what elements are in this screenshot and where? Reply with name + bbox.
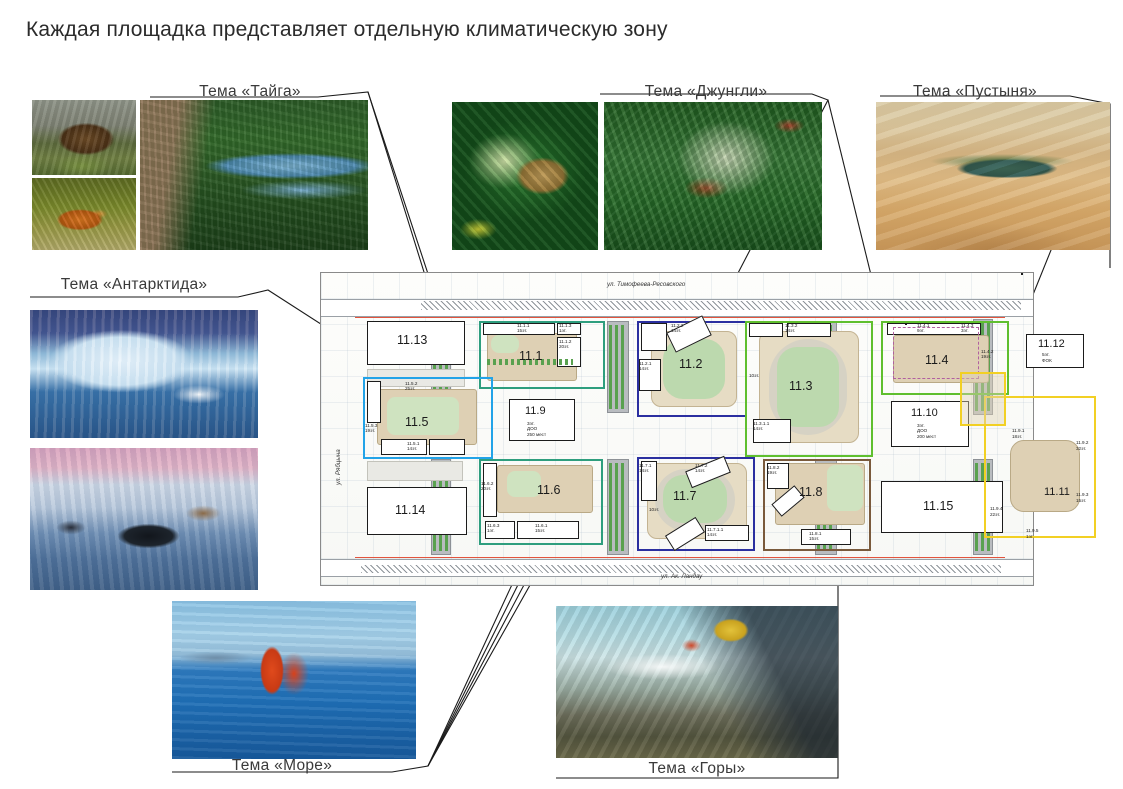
photo-jungle-foliage [604, 102, 822, 250]
plan-block-label-11-5: 11.5 [405, 415, 428, 429]
plan-sub-11-9-2: 11.9.232эт. [1076, 440, 1088, 451]
theme-label-desert: Тема «Пустыня» [880, 83, 1070, 101]
photo-desert-oasis [876, 102, 1110, 250]
plan-note-11-11: 3эт.ДОО200 мест [917, 423, 936, 439]
plan-block-label-11-12: 11.12 [1038, 338, 1065, 350]
plan-sub-11-4-3: 11.4.33эт. [961, 323, 973, 334]
plan-block-label-11-2: 11.2 [679, 357, 702, 371]
plan-sub-11-3-1-1: 11.3.1.114эт. [753, 421, 769, 432]
plan-block-label-11-9: 11.11 [1044, 486, 1070, 498]
plan-block-label-11-11: 11.10 [911, 407, 938, 419]
plan-sub-11-7-1-1: 11.7.1.114эт. [707, 527, 723, 538]
theme-label-mountains: Тема «Горы» [556, 760, 838, 778]
street-label-left: ул. Рябцына [335, 449, 342, 485]
plan-sub-11-6-2: 11.6.220эт. [481, 481, 493, 492]
plan-sub-11-9-3: 11.9.315эт. [1076, 492, 1088, 503]
photo-jungle-leopard [452, 102, 598, 250]
plan-block-label-11-3: 11.3 [789, 379, 812, 393]
plan-court-11-9 [1010, 440, 1080, 512]
plan-sub-11-3-2: 11.3.214эт. [785, 323, 797, 334]
plan-highlight-11-9-strip[interactable] [960, 372, 1006, 426]
photo-antarctica-iceberg [30, 310, 258, 438]
plan-sub-11-4-2: 11.4.219эт. [981, 349, 993, 360]
plan-block-label-11-10: 11.9 [525, 405, 546, 417]
page-title: Каждая площадка представляет отдельную к… [26, 18, 668, 42]
plan-block-label-11-7: 11.7 [673, 489, 696, 503]
plan-sub-11-2-1: 11.2.114эт. [639, 361, 651, 372]
photo-mountains [556, 606, 838, 758]
plan-sub-11-6-1: 11.6.115эт. [535, 523, 547, 534]
theme-label-taiga: Тема «Тайга» [150, 83, 350, 101]
photo-taiga-fox [32, 178, 136, 250]
plan-sub-11-5-3: 11.5.319эт. [365, 423, 377, 434]
photo-taiga-bear [32, 100, 136, 175]
plan-sub-11-5-2: 11.5.225эт. [405, 381, 417, 392]
plan-sub-11-8-1: 11.8.115эт. [809, 531, 821, 542]
plan-sub-11-5-1: 11.5.114эт. [407, 441, 419, 452]
plan-sub-11-7-2: 11.7.214эт. [695, 463, 707, 474]
theme-label-antarctica: Тема «Антарктида» [30, 276, 238, 294]
theme-label-sea: Тема «Море» [172, 757, 392, 775]
slide-canvas: Каждая площадка представляет отдельную к… [0, 0, 1123, 789]
plan-sub-11-1-3: 11.1.31эт. [559, 323, 571, 334]
plan-sub-11-1-2: 11.1.220эт. [559, 339, 571, 350]
theme-label-jungle: Тема «Джунгли» [600, 83, 812, 101]
photo-antarctica-wildlife [30, 448, 258, 590]
plan-block-label-11-13: 11.13 [397, 333, 427, 347]
plan-sub-11-7-floors: 10эт. [649, 507, 659, 512]
plan-block-label-11-4: 11.4 [925, 353, 948, 367]
plan-sub-11-3-1: 10эт. [749, 373, 759, 378]
plan-block-label-11-15: 11.15 [923, 499, 953, 513]
plan-sub-11-7-1: 11.7.114эт. [639, 463, 651, 474]
site-plan[interactable]: ул. Тимофеева-Ресовского ул. Ак. Ландау … [320, 272, 1034, 586]
plan-sub-11-1-1: 11.1.115эт. [517, 323, 529, 334]
plan-note-11-12: 5эт.ФОК [1042, 352, 1052, 363]
plan-sub-11-9-4: 11.9.422эт. [990, 506, 1002, 517]
photo-taiga-forest [140, 100, 368, 250]
plan-sub-11-9-1: 11.9.118эт. [1012, 428, 1024, 439]
plan-sub-11-9-5: 11.9.51эт. [1026, 528, 1038, 539]
plan-block-label-11-14: 11.14 [395, 503, 425, 517]
plan-sub-11-6-3: 11.6.31эт. [487, 523, 499, 534]
street-label-bottom: ул. Ак. Ландау [661, 573, 702, 580]
plan-note-11-10: 3эт.ДОО250 мест [527, 421, 546, 437]
street-label-top: ул. Тимофеева-Ресовского [607, 281, 685, 288]
plan-block-label-11-6: 11.6 [537, 483, 560, 497]
plan-sub-11-8-2: 11.8.219эт. [767, 465, 779, 476]
plan-block-label-11-8: 11.8 [799, 485, 822, 499]
plan-block-label-11-1: 11.1 [519, 349, 542, 363]
plan-sub-11-4-1: 11.4.19эт. [917, 323, 929, 334]
photo-sea-sailboat [172, 601, 416, 759]
plan-sub-11-2-2: 11.2.214эт. [671, 323, 683, 334]
